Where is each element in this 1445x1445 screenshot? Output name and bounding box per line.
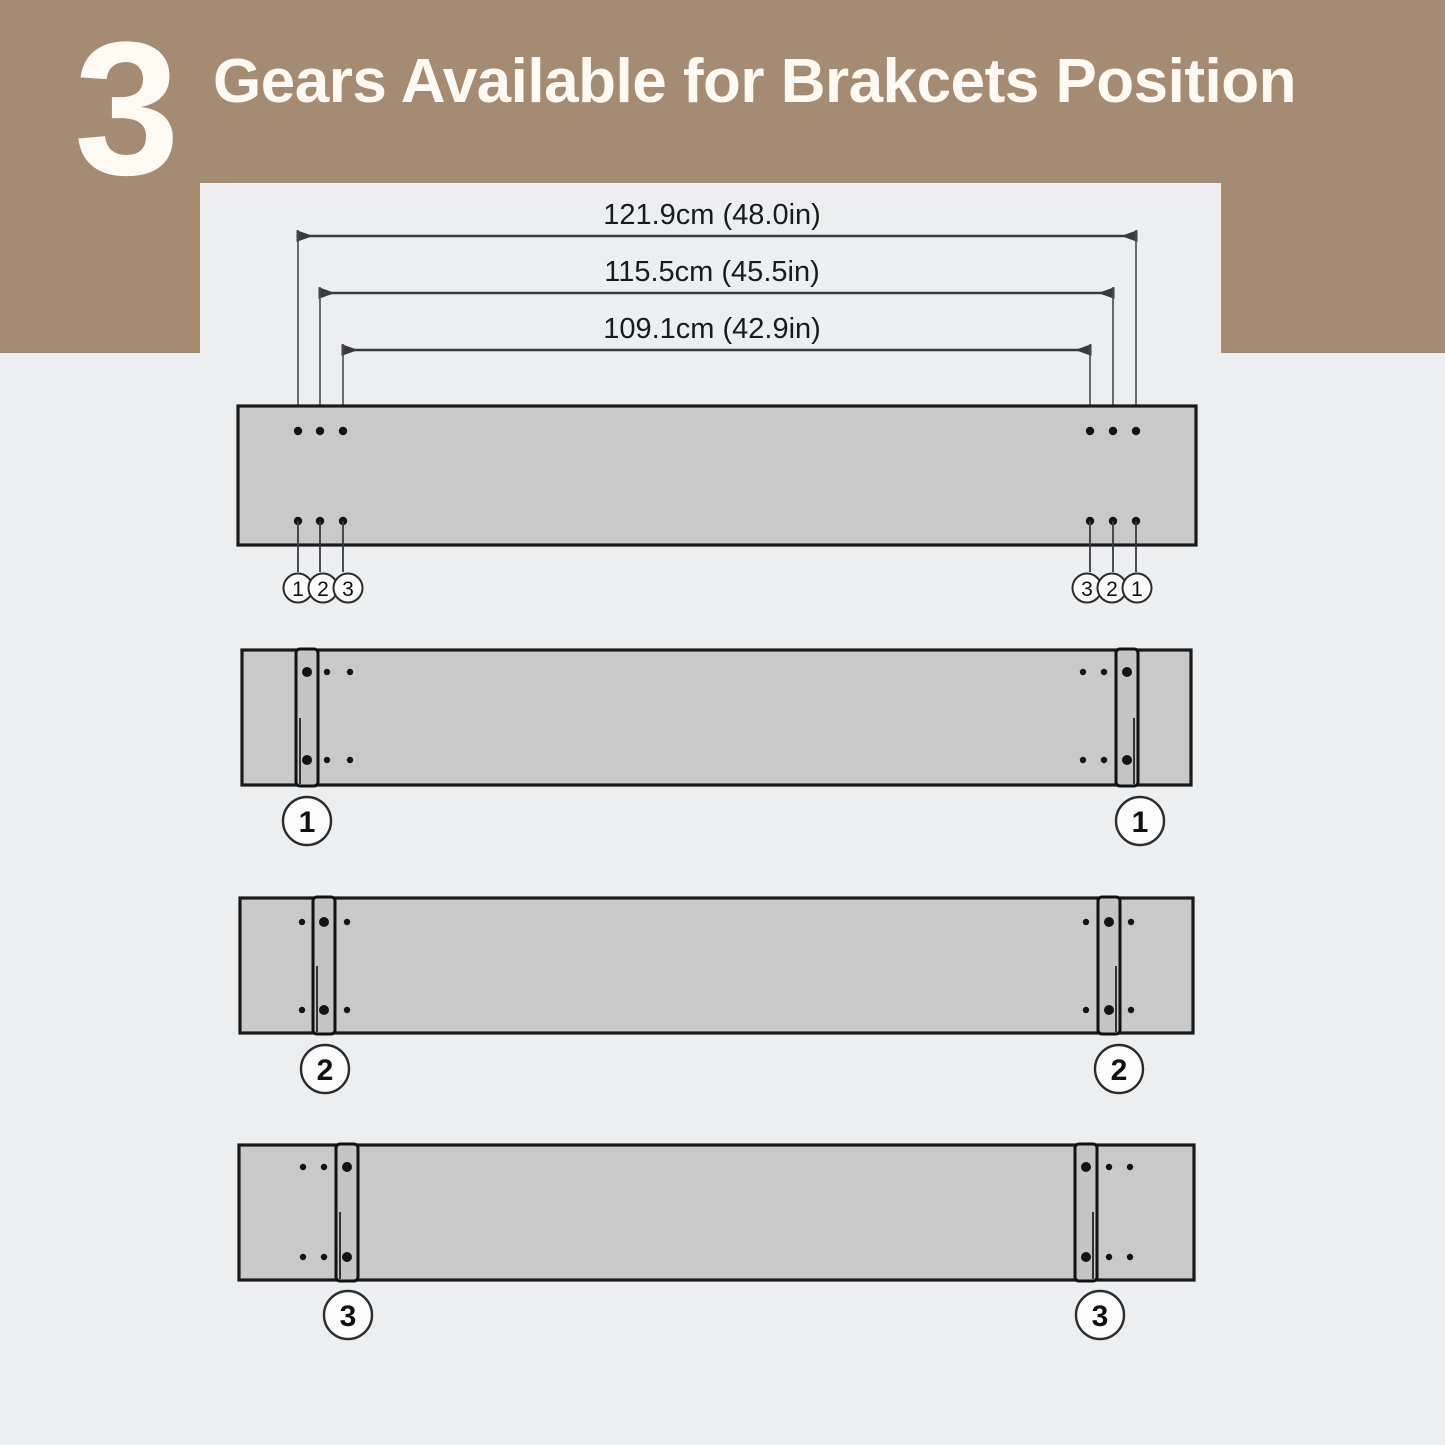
gear-3-left-hole-empty-1b bbox=[300, 1254, 306, 1260]
gear-1-badge-left-label: 1 bbox=[299, 806, 316, 839]
callout-badge-right-3-label: 3 bbox=[1081, 578, 1093, 601]
gear-1-bracket-right-screw-bottom bbox=[1122, 755, 1132, 765]
gear-3-badge-right: 3 bbox=[1076, 1291, 1124, 1339]
gear-2-badge-left: 2 bbox=[301, 1045, 349, 1093]
hole-top-right-3 bbox=[1086, 427, 1094, 435]
gear-2-left-hole-empty-2 bbox=[344, 919, 350, 925]
hole-top-right-2 bbox=[1109, 427, 1117, 435]
gear-3-right-hole-empty-2b bbox=[1106, 1254, 1112, 1260]
gear-1-bracket-left-screw-top bbox=[302, 667, 312, 677]
gear-2-bracket-left-screw-bottom bbox=[319, 1005, 329, 1015]
overview-board: 1 2 3 3 2 1 bbox=[238, 406, 1196, 603]
gear-2-right-hole-empty-1b bbox=[1128, 1007, 1134, 1013]
gear-1-bracket-left-screw-bottom bbox=[302, 755, 312, 765]
gear-2-right-hole-empty-2 bbox=[1083, 919, 1089, 925]
gear-1-right-hole-empty-2 bbox=[1080, 669, 1086, 675]
callout-badge-right-1: 1 bbox=[1123, 574, 1152, 603]
gear-2-badge-right: 2 bbox=[1095, 1045, 1143, 1093]
gear-1-left-hole-empty-2 bbox=[347, 669, 353, 675]
gear-3-bracket-left-screw-bottom bbox=[342, 1252, 352, 1262]
gear-3-badge-left-label: 3 bbox=[340, 1300, 357, 1333]
gear-2-badge-left-label: 2 bbox=[317, 1054, 334, 1087]
gear-1-badge-right: 1 bbox=[1116, 797, 1164, 845]
gear-1-left-hole-empty-1 bbox=[324, 669, 330, 675]
gear-3-left-hole-empty-2 bbox=[321, 1164, 327, 1170]
gear-1-right-hole-empty-1 bbox=[1101, 669, 1107, 675]
callout-badge-left-2-label: 2 bbox=[317, 578, 329, 601]
gear-3-left-hole-empty-2b bbox=[321, 1254, 327, 1260]
gear-1-badge-left: 1 bbox=[283, 797, 331, 845]
callout-badge-left-3: 3 bbox=[334, 574, 363, 603]
gear-2-left-hole-empty-1 bbox=[299, 919, 305, 925]
gear-2-badge-right-label: 2 bbox=[1111, 1054, 1128, 1087]
gear-2-bracket-right-screw-top bbox=[1104, 917, 1114, 927]
gear-3-right-hole-empty-1 bbox=[1127, 1164, 1133, 1170]
dimension-label-1: 121.9cm (48.0in) bbox=[603, 199, 821, 231]
diagram-stage: 121.9cm (48.0in) 115.5cm (45.5in) 109.1c… bbox=[0, 0, 1445, 1445]
gear-3-badge-left: 3 bbox=[324, 1291, 372, 1339]
hole-top-right-1 bbox=[1132, 427, 1140, 435]
gear-panel-1-board bbox=[242, 650, 1191, 785]
hole-top-left-2 bbox=[316, 427, 324, 435]
gear-1-left-hole-empty-1b bbox=[324, 757, 330, 763]
product-diagram-page: 3 Gears Available for Brakcets Position … bbox=[0, 0, 1445, 1445]
gear-panel-2: 2 2 bbox=[240, 897, 1193, 1093]
gear-panel-3: 3 3 bbox=[239, 1144, 1194, 1339]
gear-2-right-hole-empty-1 bbox=[1128, 919, 1134, 925]
hole-top-left-3 bbox=[339, 427, 347, 435]
gear-3-bracket-right-screw-top bbox=[1081, 1162, 1091, 1172]
gear-1-badge-right-label: 1 bbox=[1132, 806, 1149, 839]
gear-1-right-hole-empty-2b bbox=[1080, 757, 1086, 763]
gear-1-bracket-right-screw-top bbox=[1122, 667, 1132, 677]
gear-1-right-hole-empty-1b bbox=[1101, 757, 1107, 763]
gear-3-right-hole-empty-2 bbox=[1106, 1164, 1112, 1170]
gear-3-left-hole-empty-1 bbox=[300, 1164, 306, 1170]
gear-3-bracket-left-screw-top bbox=[342, 1162, 352, 1172]
gear-3-badge-right-label: 3 bbox=[1092, 1300, 1109, 1333]
callout-badge-right-1-label: 1 bbox=[1131, 578, 1143, 601]
callout-badge-right-2-label: 2 bbox=[1106, 578, 1118, 601]
gear-1-left-hole-empty-2b bbox=[347, 757, 353, 763]
dimension-label-3: 109.1cm (42.9in) bbox=[603, 313, 821, 345]
gear-2-bracket-right-screw-bottom bbox=[1104, 1005, 1114, 1015]
dimension-label-2: 115.5cm (45.5in) bbox=[604, 256, 819, 288]
gear-panel-3-board bbox=[239, 1145, 1194, 1280]
overview-board-body bbox=[238, 406, 1196, 545]
gear-3-bracket-right-screw-bottom bbox=[1081, 1252, 1091, 1262]
gear-2-bracket-left-screw-top bbox=[319, 917, 329, 927]
gear-panel-1: 1 1 bbox=[242, 649, 1191, 845]
callout-badge-left-3-label: 3 bbox=[342, 578, 354, 601]
gear-2-left-hole-empty-1b bbox=[299, 1007, 305, 1013]
gear-3-right-hole-empty-1b bbox=[1127, 1254, 1133, 1260]
gear-2-right-hole-empty-2b bbox=[1083, 1007, 1089, 1013]
callout-badge-left-1-label: 1 bbox=[292, 578, 304, 601]
gear-panel-2-board bbox=[240, 898, 1193, 1033]
gear-2-left-hole-empty-2b bbox=[344, 1007, 350, 1013]
hole-top-left-1 bbox=[294, 427, 302, 435]
